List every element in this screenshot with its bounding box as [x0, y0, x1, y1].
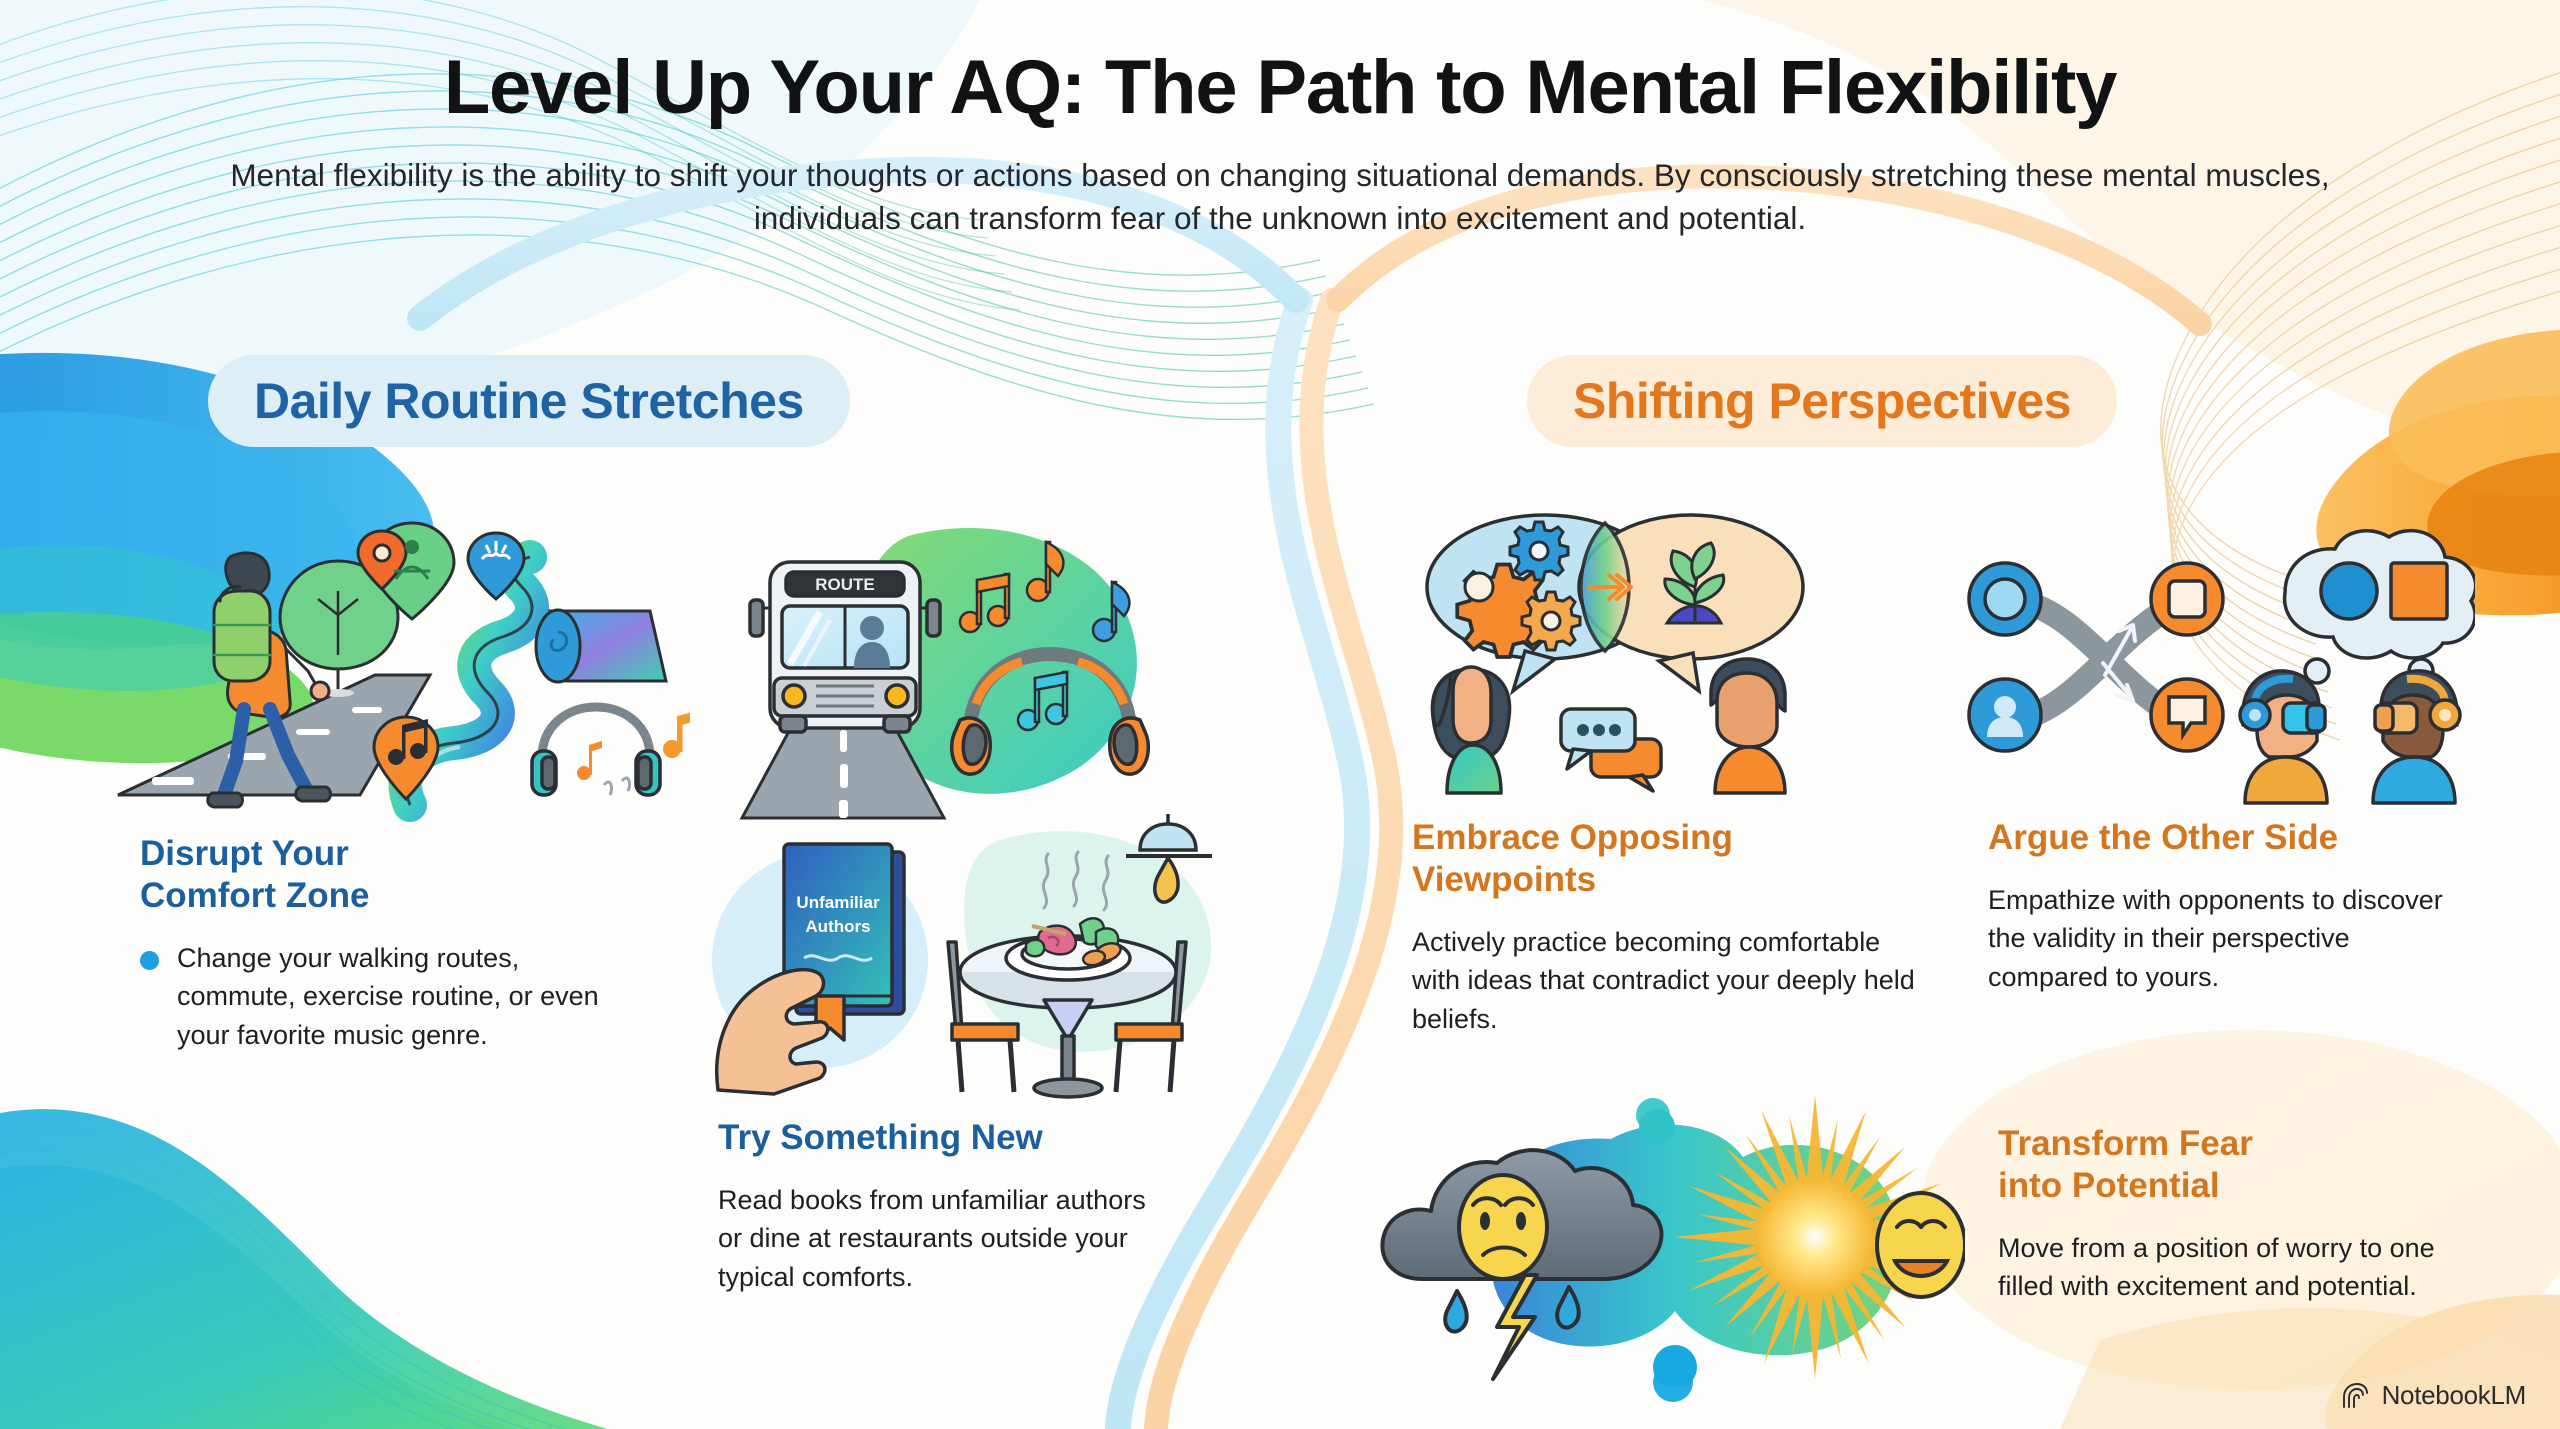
- content-heading: Transform Fear into Potential: [1998, 1123, 2438, 1207]
- content-block-argue-the-other-side: Argue the Other Side Empathize with oppo…: [1988, 817, 2458, 996]
- content-heading: Argue the Other Side: [1988, 817, 2458, 859]
- book-title-line1: Unfamiliar: [796, 893, 880, 912]
- hiker-walking-road-illustration: [110, 495, 690, 825]
- bus-commute-illustration: ROUTE: [720, 520, 1170, 820]
- perspective-swap-vr-illustration: [1955, 525, 2475, 805]
- content-body: Actively practice becoming comfortable w…: [1412, 923, 1932, 1038]
- content-block-disrupt-your-comfort-zone: Disrupt Your Comfort Zone Change your wa…: [140, 833, 640, 1054]
- book-title-line2: Authors: [805, 917, 870, 936]
- header: Level Up Your AQ: The Path to Mental Fle…: [0, 48, 2560, 241]
- heading-line-1: Transform Fear: [1998, 1124, 2253, 1163]
- page-title: Level Up Your AQ: The Path to Mental Fle…: [0, 48, 2560, 128]
- content-body: Read books from unfamiliar authors or di…: [718, 1181, 1148, 1296]
- page-subtitle: Mental flexibility is the ability to shi…: [210, 154, 2350, 241]
- bullet-item: Change your walking routes, commute, exe…: [140, 939, 640, 1054]
- bus-route-sign-text: ROUTE: [815, 575, 875, 594]
- infographic-canvas: Level Up Your AQ: The Path to Mental Fle…: [0, 0, 2560, 1429]
- content-heading: Try Something New: [718, 1117, 1148, 1159]
- content-heading: Embrace Opposing Viewpoints: [1412, 817, 1932, 901]
- content-heading: Disrupt Your Comfort Zone: [140, 833, 640, 917]
- content-body: Empathize with opponents to discover the…: [1988, 881, 2458, 996]
- heading-line-1: Disrupt Your: [140, 834, 349, 873]
- heading-line-1: Embrace Opposing: [1412, 818, 1733, 857]
- content-block-embrace-opposing-viewpoints: Embrace Opposing Viewpoints Actively pra…: [1412, 817, 1932, 1038]
- section-heading-daily-routine-stretches: Daily Routine Stretches: [208, 355, 850, 447]
- heading-line-2: Viewpoints: [1412, 860, 1596, 899]
- heading-line-2: into Potential: [1998, 1166, 2220, 1205]
- bullet-dot-icon: [140, 951, 159, 970]
- content-body: Change your walking routes, commute, exe…: [177, 939, 640, 1054]
- heading-line-2: Comfort Zone: [140, 876, 369, 915]
- watermark-label: NotebookLM: [2382, 1380, 2526, 1411]
- two-people-thought-bubbles-illustration: [1405, 495, 1825, 795]
- content-block-transform-fear-into-potential: Transform Fear into Potential Move from …: [1998, 1123, 2438, 1306]
- notebooklm-spiral-icon: [2340, 1381, 2370, 1411]
- unfamiliar-book-and-restaurant-illustration: Unfamiliar Authors: [700, 800, 1240, 1100]
- storm-cloud-to-sunshine-illustration: [1345, 1095, 1965, 1385]
- content-body: Move from a position of worry to one fil…: [1998, 1229, 2438, 1306]
- section-heading-shifting-perspectives: Shifting Perspectives: [1527, 355, 2117, 447]
- notebooklm-watermark: NotebookLM: [2340, 1380, 2526, 1411]
- content-block-try-something-new: Try Something New Read books from unfami…: [718, 1117, 1148, 1296]
